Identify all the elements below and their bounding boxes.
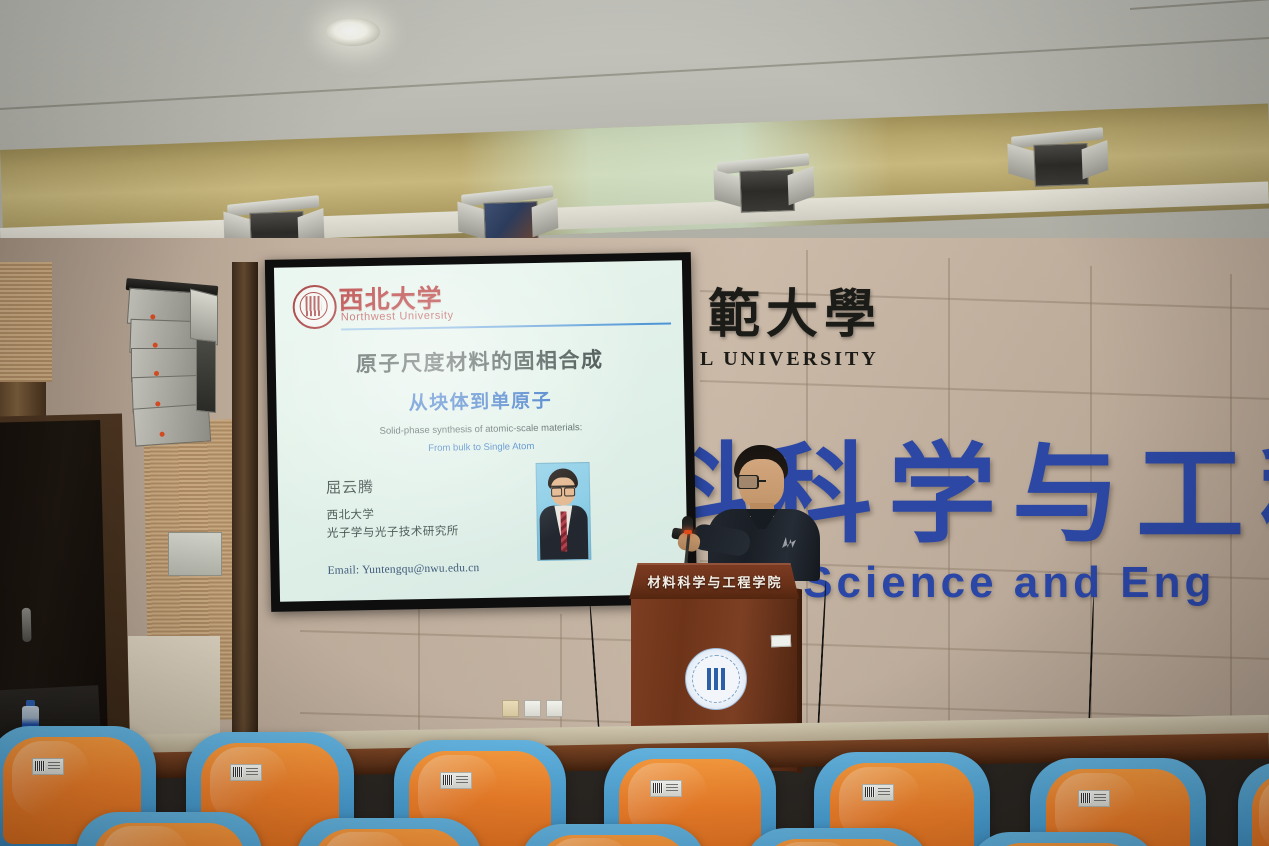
presenter-portrait bbox=[536, 462, 592, 561]
ribbed-wall-panel bbox=[0, 262, 52, 382]
university-name-en: Northwest University bbox=[341, 309, 454, 323]
stage-light-far-right bbox=[1011, 130, 1105, 191]
wall-socket[interactable] bbox=[546, 700, 563, 717]
podium-label: 材料科学与工程学院 bbox=[639, 572, 791, 591]
speaker-amplifier bbox=[190, 289, 218, 346]
speaker-rigging bbox=[196, 339, 216, 413]
wall-socket[interactable] bbox=[524, 700, 541, 717]
projection-screen: 西北大学 Northwest University 原子尺度材料的固相合成 从块… bbox=[265, 252, 697, 612]
slide-title-en-line1: Solid-phase synthesis of atomic-scale ma… bbox=[277, 420, 685, 438]
wall-banner-en: L UNIVERSITY bbox=[700, 348, 879, 371]
podium-asset-tag bbox=[771, 635, 791, 648]
presenter-email: Email: Yuntengqu@nwu.edu.cn bbox=[327, 562, 479, 577]
presenter-name: 屈云腾 bbox=[326, 476, 374, 498]
seat-row2-1[interactable] bbox=[76, 812, 262, 846]
wall-banner-cn: 範大學 bbox=[708, 272, 882, 347]
door-handle[interactable] bbox=[22, 608, 32, 642]
seat-asset-tag bbox=[862, 784, 894, 801]
lecture-hall-photo: 範大學 L UNIVERSITY 料科学与工程 erials Science a… bbox=[0, 0, 1269, 846]
seat-row2-2[interactable] bbox=[296, 818, 482, 846]
slide-title-cn: 原子尺度材料的固相合成 bbox=[275, 342, 683, 379]
seat-row2-3[interactable] bbox=[520, 824, 706, 846]
college-emblem-icon bbox=[685, 648, 747, 710]
seat-asset-tag bbox=[440, 772, 472, 789]
seat-row2-4[interactable] bbox=[744, 828, 930, 846]
slide-divider bbox=[341, 322, 671, 330]
presenter-affiliation-institute: 光子学与光子技术研究所 bbox=[327, 522, 459, 540]
presenter-affiliation-university: 西北大学 bbox=[326, 506, 374, 523]
seat-asset-tag bbox=[32, 758, 64, 775]
northwest-university-seal-icon bbox=[292, 285, 337, 330]
seat-asset-tag bbox=[230, 764, 262, 781]
seat-asset-tag bbox=[1078, 790, 1110, 807]
seat-row1-7[interactable] bbox=[1238, 762, 1269, 846]
recessed-downlight-icon bbox=[326, 18, 380, 46]
wall-socket[interactable] bbox=[502, 700, 519, 717]
slide-title-en-line2: From bulk to Single Atom bbox=[277, 438, 685, 456]
presenter-person bbox=[698, 445, 830, 580]
stage-light-right bbox=[717, 156, 811, 217]
wall-access-panel bbox=[168, 532, 222, 576]
slide-surface: 西北大学 Northwest University 原子尺度材料的固相合成 从块… bbox=[274, 260, 688, 601]
seat-row2-5[interactable] bbox=[968, 832, 1158, 846]
glasses-icon bbox=[737, 475, 786, 487]
wood-column bbox=[232, 262, 258, 732]
microphone-indicator bbox=[684, 530, 692, 534]
slide-subtitle-cn: 从块体到单原子 bbox=[276, 383, 684, 417]
seat-asset-tag bbox=[650, 780, 682, 797]
